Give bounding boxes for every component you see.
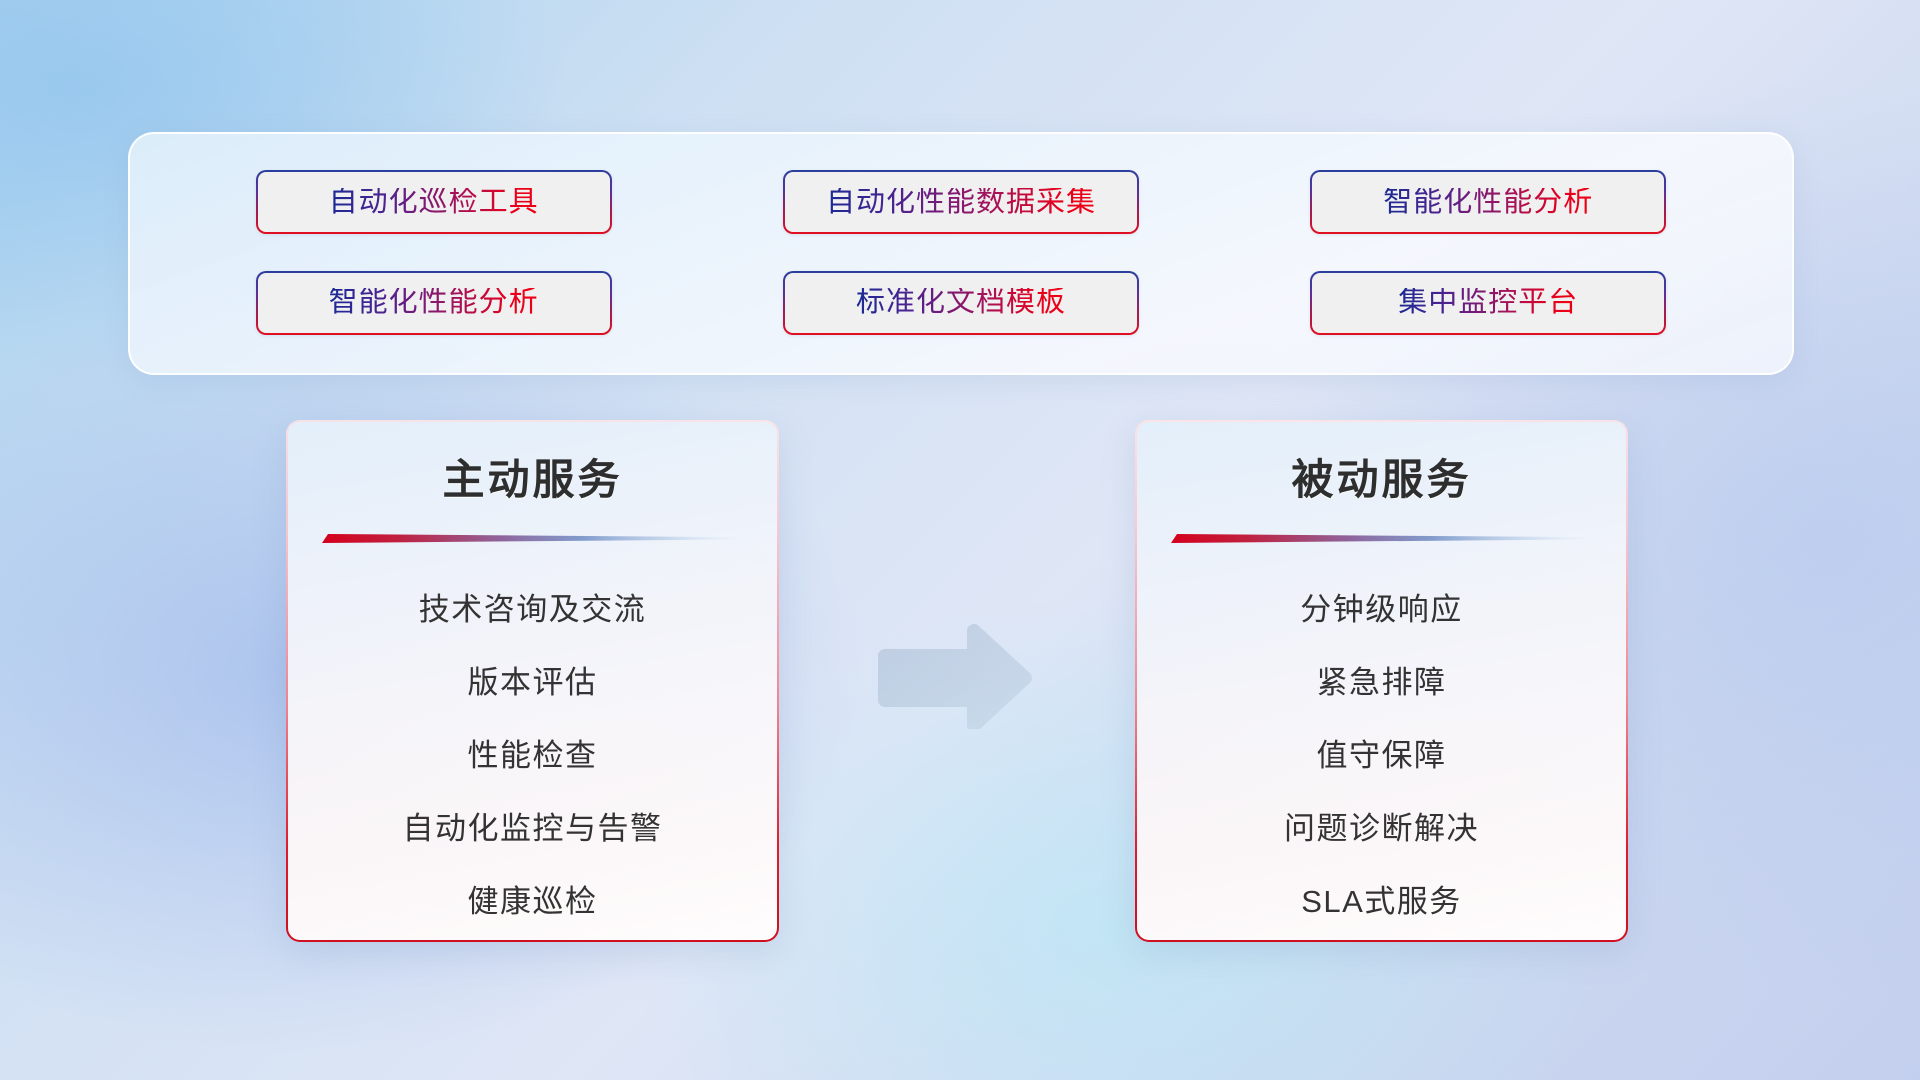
capability-chip-5-label: 标准化文档模板 xyxy=(856,288,1066,317)
service-card-passive-divider xyxy=(1171,531,1592,545)
capability-chip-grid: 自动化巡检工具 自动化性能数据采集 智能化性能分析 智能化性能分析 xyxy=(130,134,1792,373)
capability-chip-1-body: 自动化巡检工具 xyxy=(258,172,610,232)
list-item: 性能检查 xyxy=(468,719,598,792)
service-card-passive[interactable]: 被动服务 xyxy=(1135,420,1628,942)
capability-chip-6-body: 集中监控平台 xyxy=(1312,273,1664,333)
capability-chip-2-body: 自动化性能数据采集 xyxy=(785,172,1137,232)
list-item: 紧急排障 xyxy=(1317,646,1447,719)
service-card-passive-title: 被动服务 xyxy=(1291,454,1471,507)
capability-chip-2-label: 自动化性能数据采集 xyxy=(826,188,1096,217)
list-item: 自动化监控与告警 xyxy=(403,792,663,865)
capability-chip-1[interactable]: 自动化巡检工具 xyxy=(256,170,612,234)
list-item: SLA式服务 xyxy=(1301,865,1462,938)
list-item: 健康巡检 xyxy=(468,865,598,938)
service-card-active-body: 主动服务 xyxy=(288,422,777,940)
service-card-active-title: 主动服务 xyxy=(442,454,622,507)
slide-canvas: 自动化巡检工具 自动化性能数据采集 智能化性能分析 智能化性能分析 xyxy=(0,0,1920,1080)
service-card-passive-body: 被动服务 xyxy=(1137,422,1626,940)
capability-chip-4-label: 智能化性能分析 xyxy=(329,288,539,317)
capability-chip-3[interactable]: 智能化性能分析 xyxy=(1310,170,1666,234)
capability-chip-3-label: 智能化性能分析 xyxy=(1383,188,1593,217)
service-card-active-divider xyxy=(322,531,743,545)
capability-chip-2[interactable]: 自动化性能数据采集 xyxy=(783,170,1139,234)
capability-chip-6[interactable]: 集中监控平台 xyxy=(1310,271,1666,335)
list-item: 分钟级响应 xyxy=(1300,573,1463,646)
arrow-right-icon xyxy=(872,623,1036,729)
capability-panel: 自动化巡检工具 自动化性能数据采集 智能化性能分析 智能化性能分析 xyxy=(128,132,1794,375)
service-card-passive-list: 分钟级响应 紧急排障 值守保障 问题诊断解决 SLA式服务 xyxy=(1171,551,1592,938)
list-item: 问题诊断解决 xyxy=(1284,792,1479,865)
list-item: 值守保障 xyxy=(1317,719,1447,792)
capability-chip-1-label: 自动化巡检工具 xyxy=(329,188,539,217)
service-card-active[interactable]: 主动服务 xyxy=(286,420,779,942)
capability-chip-5-body: 标准化文档模板 xyxy=(785,273,1137,333)
capability-chip-6-label: 集中监控平台 xyxy=(1398,288,1578,317)
capability-chip-4-body: 智能化性能分析 xyxy=(258,273,610,333)
list-item: 技术咨询及交流 xyxy=(419,573,647,646)
capability-chip-3-body: 智能化性能分析 xyxy=(1312,172,1664,232)
capability-chip-4[interactable]: 智能化性能分析 xyxy=(256,271,612,335)
capability-chip-5[interactable]: 标准化文档模板 xyxy=(783,271,1139,335)
service-card-active-list: 技术咨询及交流 版本评估 性能检查 自动化监控与告警 健康巡检 xyxy=(322,551,743,938)
list-item: 版本评估 xyxy=(468,646,598,719)
